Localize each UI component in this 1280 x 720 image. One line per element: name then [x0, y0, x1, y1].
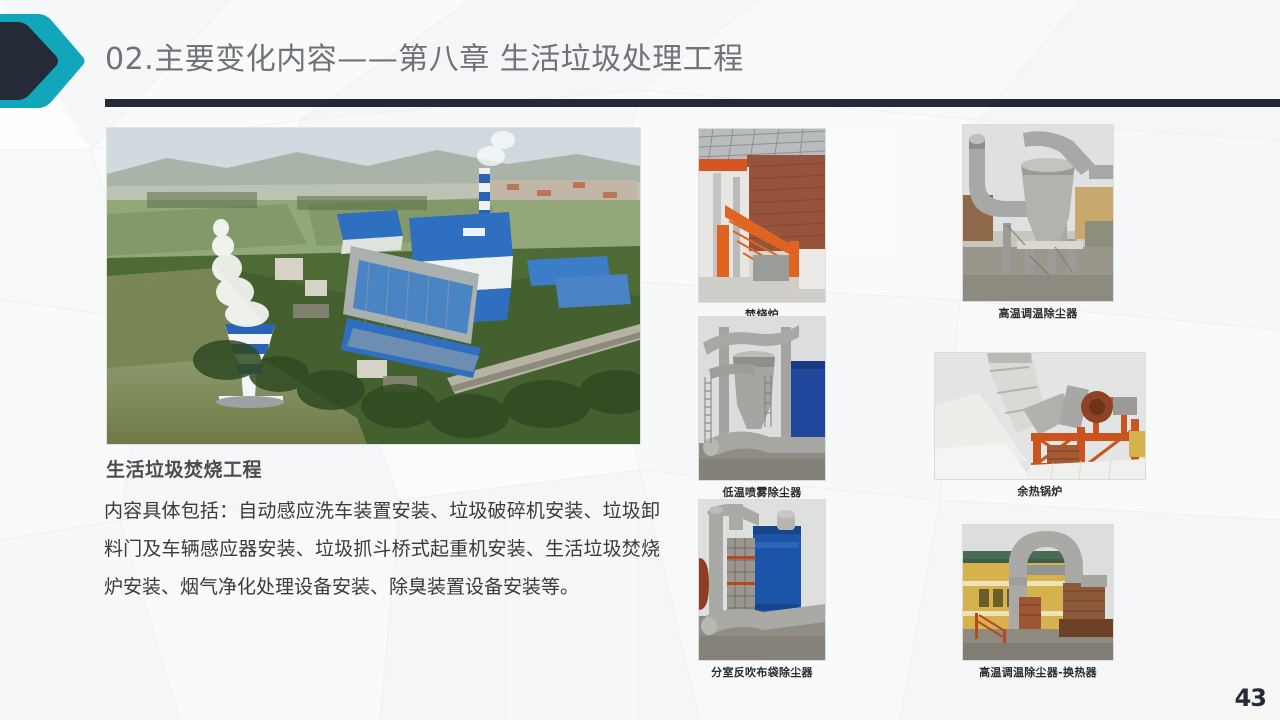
- photo-high-temp-dust-collector-heat-exchanger: [962, 524, 1114, 661]
- photo-cell-low-temp-spray-dust-collector: 低温喷雾除尘器: [698, 316, 826, 500]
- photo-incinerator-hall: [698, 128, 826, 303]
- page-number: 43: [1235, 684, 1266, 712]
- photo-high-temp-dust-collector: [962, 124, 1114, 302]
- photo-caption: 低温喷雾除尘器: [698, 484, 826, 500]
- photo-caption: 分室反吹布袋除尘器: [698, 664, 826, 680]
- photo-low-temp-spray-dust-collector: [698, 316, 826, 481]
- section-heading: 生活垃圾焚烧工程: [106, 455, 262, 482]
- title-divider: [105, 99, 1280, 107]
- slide-canvas: 02.主要变化内容——第八章 生活垃圾处理工程: [0, 0, 1280, 720]
- photo-cell-heat-exchanger: 高温调温除尘器-换热器: [962, 524, 1114, 680]
- photo-cell-incinerator: 焚烧炉: [698, 128, 826, 322]
- section-body-text: 内容具体包括：自动感应洗车装置安装、垃圾破碎机安装、垃圾卸料门及车辆感应器安装、…: [104, 492, 660, 606]
- double-chevron-right-icon: [0, 12, 86, 110]
- photo-grid: 焚烧炉: [672, 124, 1184, 686]
- photo-caption: 高温调温除尘器-换热器: [962, 664, 1114, 680]
- photo-cell-bag-filter: 分室反吹布袋除尘器: [698, 499, 826, 680]
- photo-bag-filter-dust-collector: [698, 499, 826, 661]
- photo-cell-high-temp-dust-collector: 高温调温除尘器: [962, 124, 1114, 321]
- page-title: 02.主要变化内容——第八章 生活垃圾处理工程: [105, 34, 744, 78]
- photo-cell-waste-heat-boiler: 余热锅炉: [934, 352, 1146, 499]
- hero-image-aerial-plant: [106, 127, 641, 445]
- photo-waste-heat-boiler: [934, 352, 1146, 480]
- photo-caption: 余热锅炉: [934, 483, 1146, 499]
- photo-caption: 高温调温除尘器: [962, 305, 1114, 321]
